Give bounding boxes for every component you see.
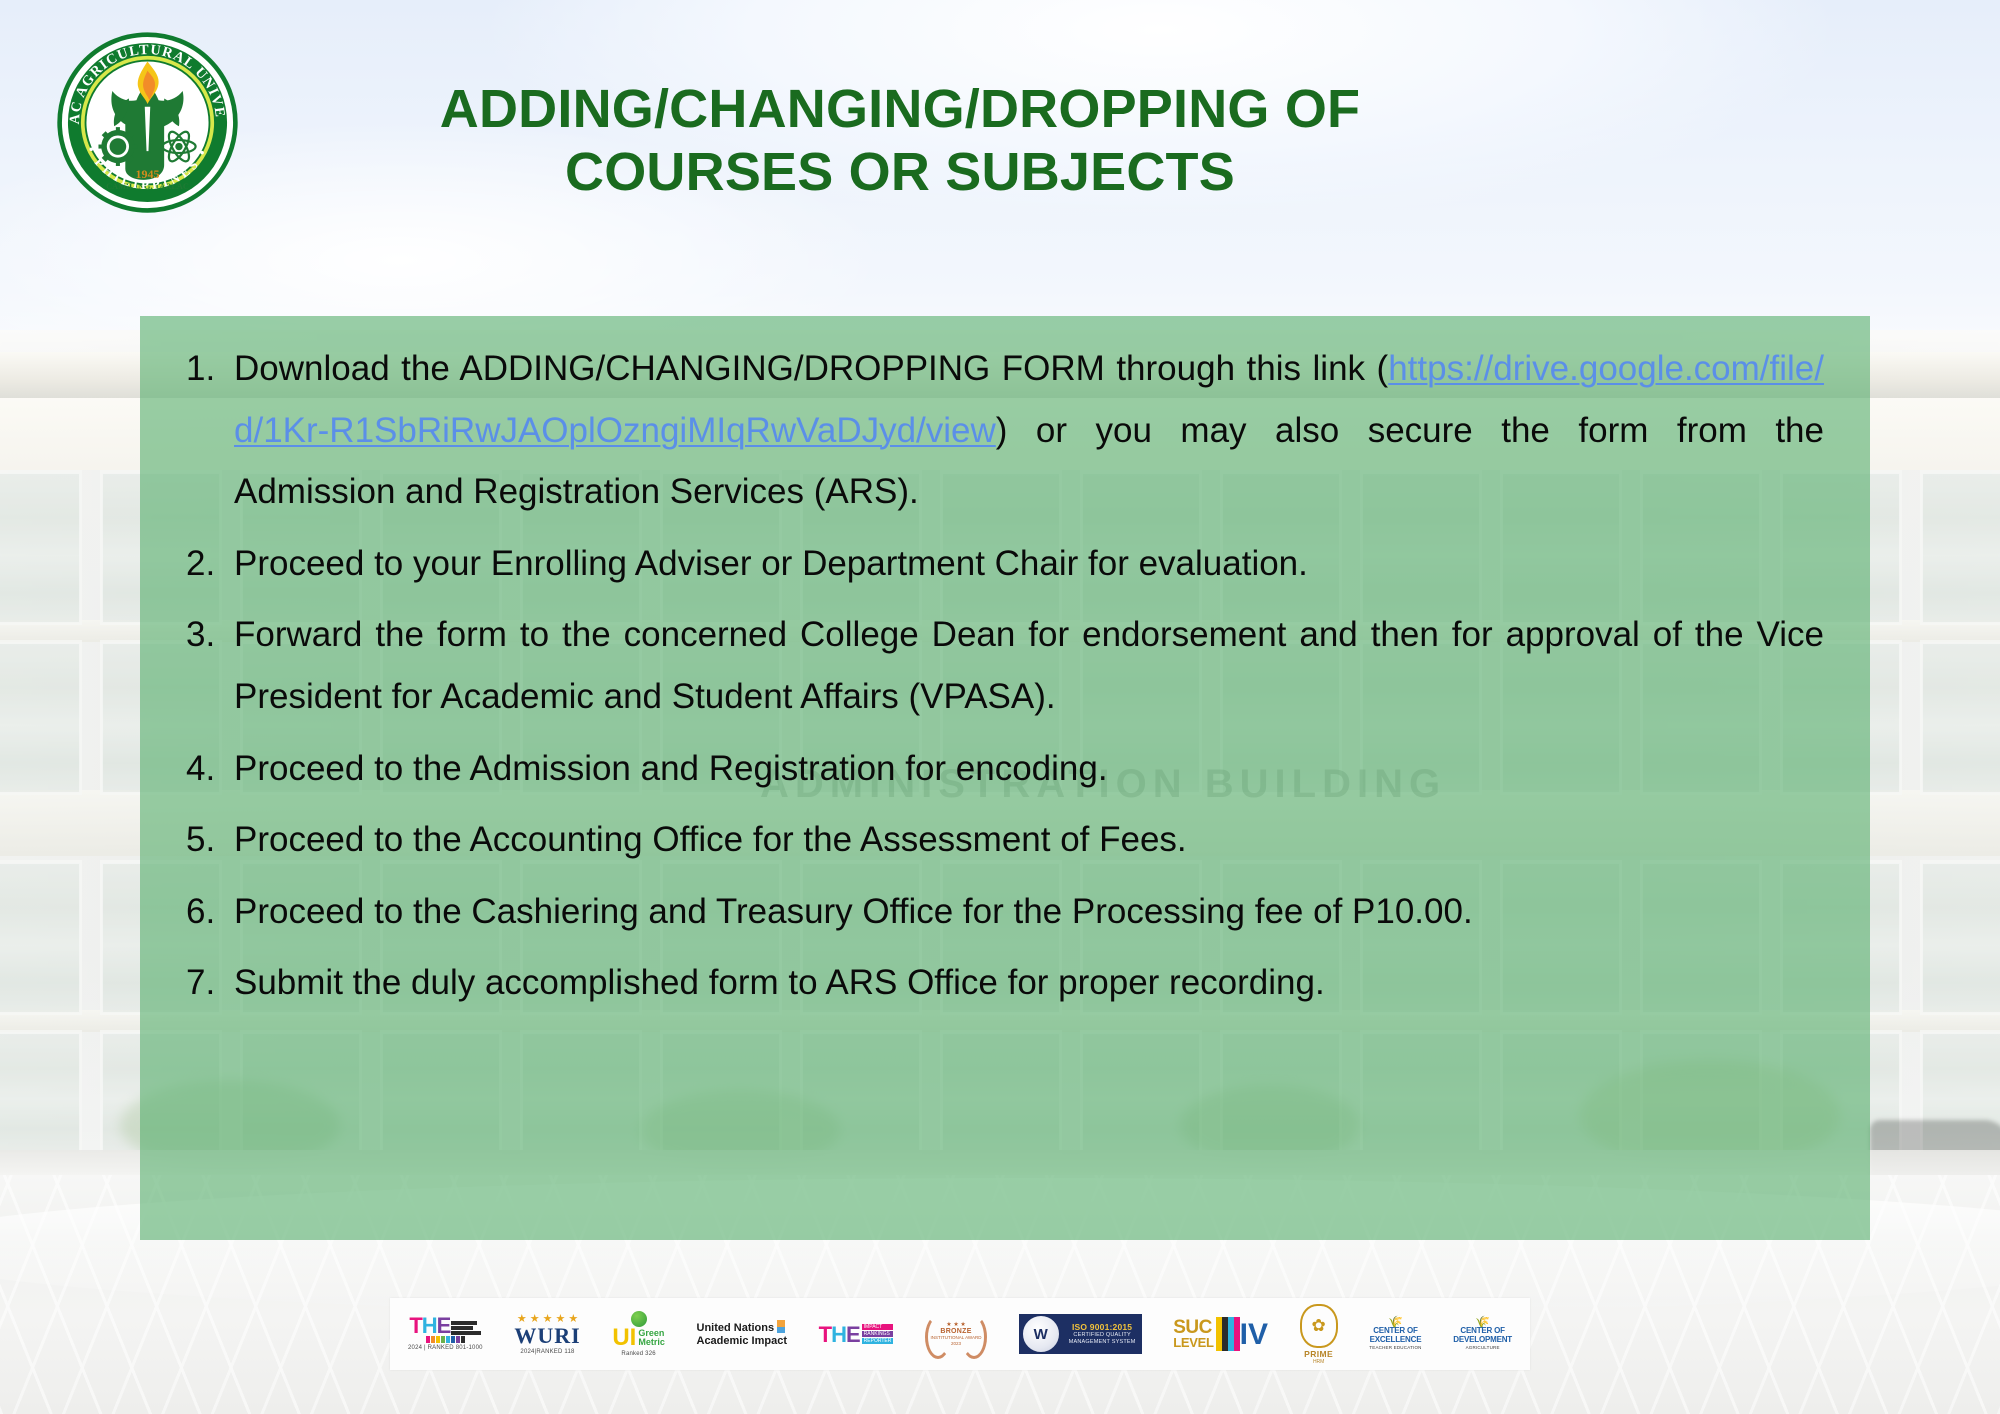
- coe-discipline: TEACHER EDUCATION: [1369, 1345, 1421, 1350]
- page-title-line-2: COURSES OR SUBJECTS: [300, 141, 1500, 204]
- level-word: LEVEL: [1173, 1336, 1213, 1349]
- suc-level-value: IV: [1240, 1321, 1268, 1348]
- step-item-6: Proceed to the Cashiering and Treasury O…: [186, 881, 1824, 943]
- bronze-award-logo: ★ ★ ★ BRONZE INSTITUTIONAL AWARD 2023: [925, 1298, 987, 1370]
- suc-word: SUC: [1173, 1319, 1213, 1336]
- wuri-wordmark: WURI: [514, 1325, 580, 1347]
- prime-word: PRIME: [1304, 1349, 1333, 1359]
- unai-line-2: Academic Impact: [697, 1335, 787, 1347]
- prime-hrm-logo: ✿ PRIME HRM: [1300, 1298, 1338, 1370]
- the-impact-wordmark-icon: THE IMPACT RANKINGS REPORTER: [819, 1324, 894, 1344]
- step-5-text: Proceed to the Accounting Office for the…: [234, 820, 1187, 859]
- coe-line-2: EXCELLENCE: [1370, 1336, 1422, 1344]
- step-item-4: Proceed to the Admission and Registratio…: [186, 738, 1824, 800]
- step-2-text: Proceed to your Enrolling Adviser or Dep…: [234, 544, 1308, 583]
- united-nations-academic-impact-logo: United Nations Academic Impact: [697, 1298, 787, 1370]
- iso-standard-text: ISO 9001:2015: [1069, 1322, 1136, 1332]
- step-6-text: Proceed to the Cashiering and Treasury O…: [234, 892, 1473, 931]
- bronze-stars-icon: ★ ★ ★: [925, 1321, 987, 1328]
- procedure-panel: Download the ADDING/CHANGING/DROPPING FO…: [140, 316, 1870, 1240]
- the-impact-sub-2: RANKINGS: [862, 1331, 894, 1337]
- unai-flag-icon: [777, 1320, 785, 1333]
- step-item-3: Forward the form to the concerned Colleg…: [186, 604, 1824, 727]
- step-item-7: Submit the duly accomplished form to ARS…: [186, 952, 1824, 1014]
- the-impact-rankings-logo: THE IMPACT RANKINGS REPORTER: [819, 1298, 894, 1370]
- uigm-rank-caption: Ranked 326: [621, 1351, 655, 1357]
- wuri-ranking-logo: ★★★★★ WURI 2024|RANKED 118: [514, 1298, 580, 1370]
- cod-line-2: DEVELOPMENT: [1453, 1336, 1512, 1344]
- step-4-text: Proceed to the Admission and Registratio…: [234, 749, 1108, 788]
- step-1-text-before: Download the ADDING/CHANGING/DROPPING FO…: [234, 349, 1388, 388]
- page-title: ADDING/CHANGING/DROPPING OF COURSES OR S…: [300, 78, 1500, 203]
- the-wordmark-icon: THE: [409, 1317, 481, 1335]
- step-item-1: Download the ADDING/CHANGING/DROPPING FO…: [186, 338, 1824, 523]
- iso-sub-2: MANAGEMENT SYSTEM: [1069, 1339, 1136, 1346]
- university-seal-logo: 1945 CAMILING, TARLAC TARLAC AGRICULTURA…: [55, 30, 240, 215]
- ui-greenmetric-logo: UI Green Metric Ranked 326: [612, 1298, 665, 1370]
- slide-canvas: ADMINISTRATION BUILDING: [0, 0, 2000, 1414]
- prime-hrm-sub: HRM: [1313, 1359, 1324, 1365]
- prime-laurel-icon: ✿: [1300, 1304, 1338, 1348]
- step-item-5: Proceed to the Accounting Office for the…: [186, 809, 1824, 871]
- iso-9001-certification-logo: W ISO 9001:2015 CERTIFIED QUALITY MANAGE…: [1019, 1298, 1142, 1370]
- cod-discipline: AGRICULTURE: [1466, 1345, 1500, 1350]
- bronze-word: BRONZE: [925, 1328, 987, 1335]
- step-3-text: Forward the form to the concerned Colleg…: [234, 615, 1824, 716]
- wuri-rank-caption: 2024|RANKED 118: [520, 1349, 574, 1355]
- uigm-ui-wordmark: UI: [612, 1327, 636, 1349]
- the-impact-sub-3: REPORTER: [862, 1338, 894, 1344]
- uigm-metric-text: Metric: [638, 1338, 665, 1347]
- laurel-wreath-icon: ★ ★ ★ BRONZE INSTITUTIONAL AWARD 2023: [925, 1311, 987, 1357]
- unai-line-1: United Nations: [697, 1322, 775, 1334]
- the-rank-caption: 2024 | RANKED 801-1000: [408, 1345, 483, 1351]
- suc-level-iv-logo: SUC LEVEL IV: [1173, 1298, 1268, 1370]
- iso-seal-icon: W: [1021, 1314, 1061, 1354]
- the-world-university-rankings-logo: THE 2024 | RANKED 801-1000: [408, 1298, 483, 1370]
- step-item-2: Proceed to your Enrolling Adviser or Dep…: [186, 533, 1824, 595]
- page-title-line-1: ADDING/CHANGING/DROPPING OF: [440, 79, 1360, 139]
- the-impact-sub-1: IMPACT: [862, 1324, 894, 1330]
- iso-sub-1: CERTIFIED QUALITY: [1069, 1332, 1136, 1339]
- the-color-bars-icon: [426, 1336, 465, 1343]
- suc-color-bars-icon: [1216, 1317, 1240, 1351]
- accreditation-logo-strip: THE 2024 | RANKED 801-1000 ★★★★★ WURI 20…: [390, 1298, 1530, 1370]
- procedure-steps-list: Download the ADDING/CHANGING/DROPPING FO…: [186, 338, 1824, 1014]
- bronze-sub: INSTITUTIONAL AWARD 2023: [925, 1335, 987, 1346]
- step-7-text: Submit the duly accomplished form to ARS…: [234, 963, 1325, 1002]
- center-of-development-logo: 🌾 CENTER OF DEVELOPMENT AGRICULTURE: [1453, 1298, 1512, 1370]
- center-of-excellence-logo: 🌾 CENTER OF EXCELLENCE TEACHER EDUCATION: [1369, 1298, 1421, 1370]
